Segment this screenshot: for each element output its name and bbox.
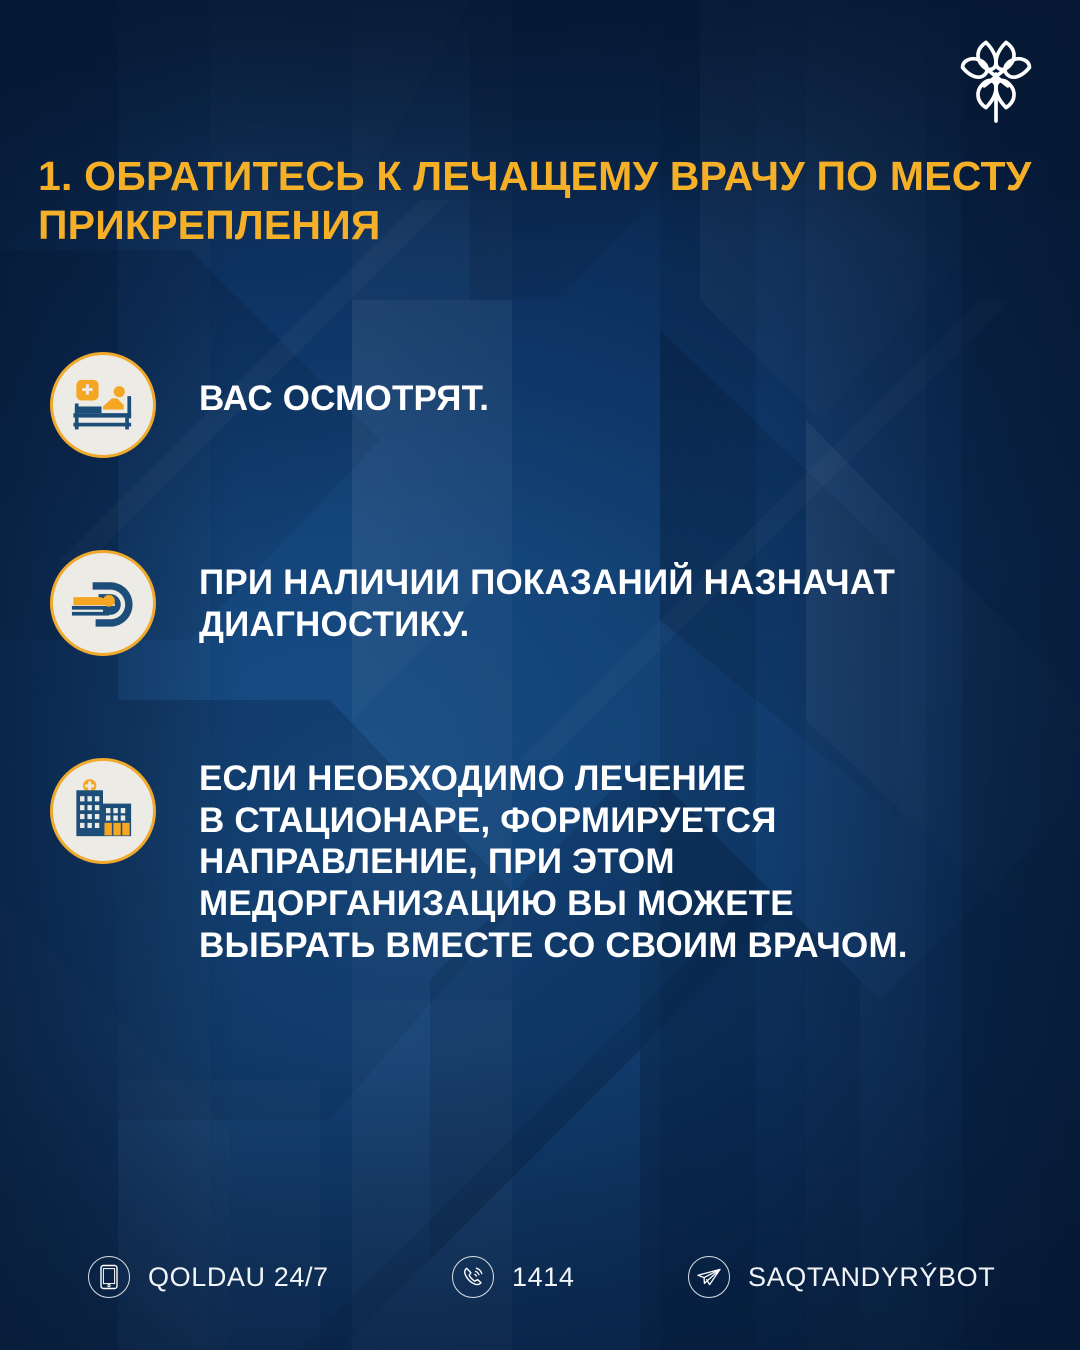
list-item-label: ЕСЛИ НЕОБХОДИМО ЛЕЧЕНИЕ В СТАЦИОНАРЕ, ФО… [199,758,1060,966]
smartphone-icon [88,1256,130,1298]
list-item: ЕСЛИ НЕОБХОДИМО ЛЕЧЕНИЕ В СТАЦИОНАРЕ, ФО… [50,758,1060,966]
hospital-bed-patient-icon [50,352,156,458]
footer-item-hotline[interactable]: 1414 [452,1256,574,1298]
phone-ringing-icon [452,1256,494,1298]
list-item: ПРИ НАЛИЧИИ ПОКАЗАНИЙ НАЗНАЧАТ ДИАГНОСТИ… [50,550,1060,656]
telegram-paper-plane-icon [688,1256,730,1298]
snowflake-ornament-logo [954,34,1038,126]
infographic-canvas: 1. ОБРАТИТЕСЬ К ЛЕЧАЩЕМУ ВРАЧУ ПО МЕСТУ … [0,0,1080,1350]
footer-label: QOLDAU 24/7 [148,1262,329,1293]
list-item: ВАС ОСМОТРЯТ. [50,352,1060,458]
mri-scanner-icon [50,550,156,656]
page-title: 1. ОБРАТИТЕСЬ К ЛЕЧАЩЕМУ ВРАЧУ ПО МЕСТУ … [38,152,1038,250]
footer-contacts: QOLDAU 24/7 1414 SAQTANDYRÝBOT [0,1250,1080,1304]
list-item-label: ПРИ НАЛИЧИИ ПОКАЗАНИЙ НАЗНАЧАТ ДИАГНОСТИ… [199,550,1060,645]
footer-label: 1414 [512,1262,574,1293]
list-item-label: ВАС ОСМОТРЯТ. [199,352,1060,420]
footer-item-qoldau[interactable]: QOLDAU 24/7 [88,1256,329,1298]
footer-label: SAQTANDYRÝBOT [748,1262,995,1293]
footer-item-telegram-bot[interactable]: SAQTANDYRÝBOT [688,1256,995,1298]
hospital-building-icon [50,758,156,864]
